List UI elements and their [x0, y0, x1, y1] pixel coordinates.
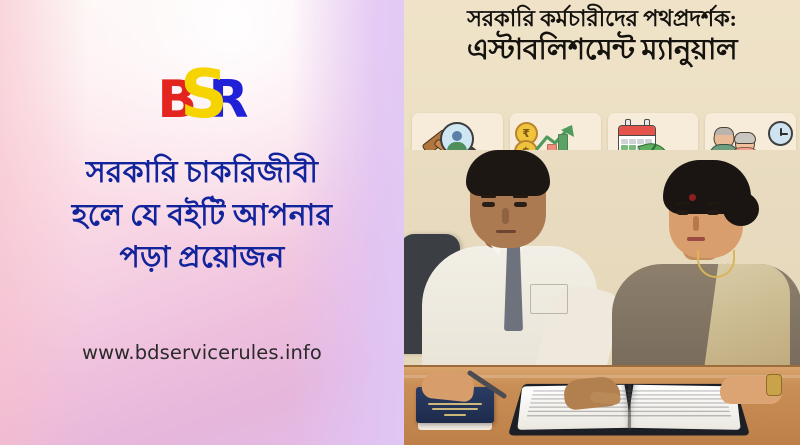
people-reading-scene — [404, 150, 800, 445]
book-title-line-2: এস্টাবলিশমেন্ট ম্যানুয়াল — [404, 34, 800, 66]
open-book — [516, 377, 742, 439]
wristwatch — [766, 374, 782, 396]
book-cover-illustration: সরকারি কর্মচারীদের পথপ্রদর্শক: এস্টাবলিশ… — [404, 0, 800, 445]
bsr-logo: BSR — [0, 74, 404, 132]
book-title-line-1: সরকারি কর্মচারীদের পথপ্রদর্শক: — [404, 6, 800, 31]
clock-icon — [768, 121, 793, 146]
headline-line-3: পড়া প্রয়োজন — [10, 237, 394, 280]
man-hand — [563, 375, 622, 411]
website-url[interactable]: www.bdservicerules.info — [0, 341, 404, 364]
left-promo-panel: BSR সরকারি চাকরিজীবী হলে যে বইটি আপনার প… — [0, 0, 404, 445]
book-title: সরকারি কর্মচারীদের পথপ্রদর্শক: এস্টাবলিশ… — [404, 6, 800, 67]
headline-line-1: সরকারি চাকরিজীবী — [10, 152, 394, 195]
headline-line-2: হলে যে বইটি আপনার — [10, 195, 394, 238]
logo-letter-s: S — [180, 62, 225, 129]
promo-headline: সরকারি চাকরিজীবী হলে যে বইটি আপনার পড়া … — [10, 152, 394, 280]
promo-banner: BSR সরকারি চাকরিজীবী হলে যে বইটি আপনার প… — [0, 0, 800, 445]
